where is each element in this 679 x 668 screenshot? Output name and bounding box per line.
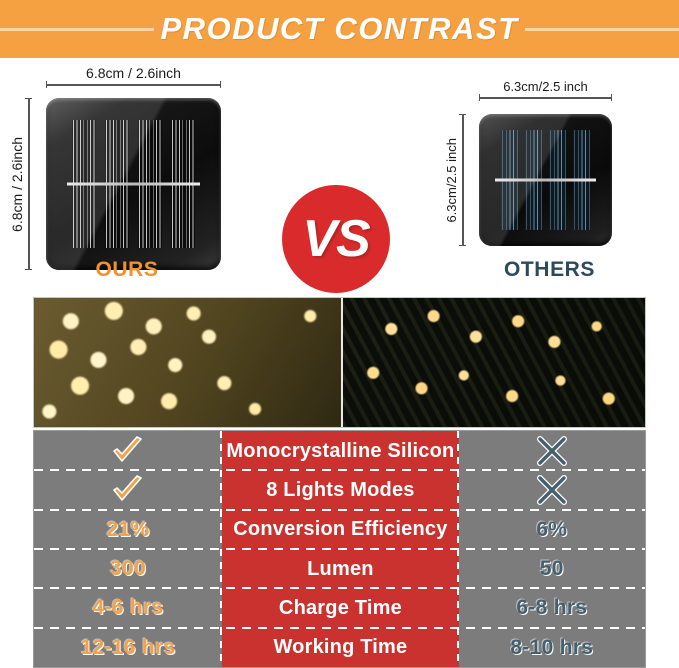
- others-value-cell: 8-10 hrs: [459, 628, 645, 667]
- ours-value-cell: 21%: [34, 510, 222, 549]
- ours-value: 300: [110, 558, 146, 579]
- banner-rule-left: [0, 28, 154, 31]
- ours-value: 12-16 hrs: [81, 637, 176, 658]
- vs-badge: VS: [282, 185, 390, 293]
- others-width-bar: [479, 94, 612, 101]
- ours-panel: 6.8cm / 2.6inch 6.8cm / 2.6inch OURS: [0, 58, 278, 295]
- ours-value-cell: [34, 470, 222, 509]
- others-width-dimension: 6.3cm/2.5 inch: [479, 80, 612, 101]
- others-width-label: 6.3cm/2.5 inch: [503, 80, 588, 94]
- cross-icon: [535, 475, 569, 505]
- others-height-dimension: 6.3cm/2.5 inch: [445, 114, 466, 246]
- solar-busbar: [67, 183, 200, 186]
- others-value-cell: 6%: [459, 510, 645, 549]
- ours-width-dimension: 6.8cm / 2.6inch: [46, 66, 221, 88]
- header-banner: PRODUCT CONTRAST: [0, 0, 679, 58]
- others-panel: 6.3cm/2.5 inch 6.3cm/2.5 inch OTHERS: [420, 58, 679, 295]
- feature-label: Working Time: [273, 637, 407, 657]
- product-comparison-section: 6.8cm / 2.6inch 6.8cm / 2.6inch OURS VS …: [0, 58, 679, 295]
- feature-label-cell: 8 Lights Modes: [222, 470, 458, 509]
- ours-brand-label: OURS: [0, 258, 266, 282]
- ours-solar-panel-image: [46, 98, 221, 270]
- table-row: 8 Lights Modes: [34, 470, 645, 509]
- ours-value: 21%: [107, 519, 150, 540]
- feature-label-cell: Lumen: [222, 549, 458, 588]
- ours-value: 4-6 hrs: [93, 597, 164, 618]
- feature-label-cell: Monocrystalline Silicon: [222, 431, 458, 470]
- table-row: Monocrystalline Silicon: [34, 431, 645, 470]
- feature-label-cell: Conversion Efficiency: [222, 510, 458, 549]
- others-value-cell: [459, 470, 645, 509]
- ours-height-dimension: 6.8cm / 2.6inch: [10, 98, 32, 270]
- feature-label: Monocrystalline Silicon: [226, 441, 454, 461]
- others-brand-label: OTHERS: [420, 258, 679, 282]
- others-value: 50: [540, 558, 564, 579]
- others-value: 6-8 hrs: [516, 597, 587, 618]
- table-row: 12-16 hrsWorking Time8-10 hrs: [34, 628, 645, 667]
- feature-label: Conversion Efficiency: [233, 519, 447, 539]
- others-value: 8-10 hrs: [510, 637, 593, 658]
- ours-width-bar: [46, 81, 221, 88]
- cross-icon: [535, 436, 569, 466]
- banner-rule-right: [525, 28, 679, 31]
- others-lights-photo: [341, 298, 645, 427]
- others-height-bar: [459, 114, 466, 246]
- ours-value-cell: 12-16 hrs: [34, 628, 222, 667]
- solar-busbar: [495, 179, 596, 182]
- others-solar-panel-image: [479, 114, 612, 246]
- comparison-table: Monocrystalline Silicon8 Lights Modes21%…: [33, 430, 646, 668]
- feature-label: Lumen: [307, 559, 374, 579]
- others-height-label: 6.3cm/2.5 inch: [445, 138, 459, 223]
- ours-value-cell: 300: [34, 549, 222, 588]
- ours-value-cell: 4-6 hrs: [34, 588, 222, 627]
- others-value-cell: 50: [459, 549, 645, 588]
- photo-strip: [33, 297, 646, 428]
- feature-label-cell: Working Time: [222, 628, 458, 667]
- others-value-cell: 6-8 hrs: [459, 588, 645, 627]
- ours-lights-photo: [34, 298, 341, 427]
- check-icon: [111, 436, 145, 466]
- feature-label-cell: Charge Time: [222, 588, 458, 627]
- vs-label: VS: [302, 213, 369, 265]
- others-value: 6%: [536, 519, 567, 540]
- ours-width-label: 6.8cm / 2.6inch: [86, 66, 181, 81]
- ours-value-cell: [34, 431, 222, 470]
- check-icon: [111, 475, 145, 505]
- page-title: PRODUCT CONTRAST: [154, 11, 524, 47]
- table-row: 4-6 hrsCharge Time6-8 hrs: [34, 588, 645, 627]
- feature-label: 8 Lights Modes: [266, 480, 414, 500]
- table-row: 21%Conversion Efficiency6%: [34, 510, 645, 549]
- others-value-cell: [459, 431, 645, 470]
- ours-height-label: 6.8cm / 2.6inch: [10, 137, 25, 232]
- feature-label: Charge Time: [279, 598, 402, 618]
- table-row: 300Lumen50: [34, 549, 645, 588]
- ours-height-bar: [25, 98, 32, 270]
